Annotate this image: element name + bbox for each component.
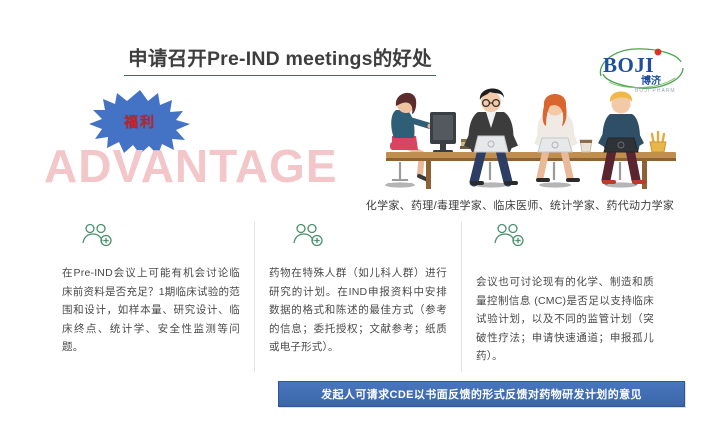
add-people-icon [492, 222, 526, 248]
add-people-icon [291, 222, 325, 248]
desktop-monitor [430, 112, 456, 153]
benefit-column-1-text: 在Pre-IND会议上可能有机会讨论临床前资料是否充足？1期临床试验的范围和设计… [62, 264, 240, 357]
footer-banner: 发起人可请求CDE以书面反馈的形式反馈对药物研发计划的意见 [278, 381, 685, 407]
page-title: 申请召开Pre-IND meetings的好处 [0, 46, 560, 76]
page-title-text: 申请召开Pre-IND meetings的好处 [124, 46, 436, 76]
advantage-wordmark: ADVANTAGE [44, 140, 338, 192]
laptop [604, 138, 638, 152]
benefit-column-3-text: 会议也可讨论现有的化学、制造和质量控制信息 (CMC)是否足以支持临床试验计划，… [476, 264, 654, 366]
slide-canvas: 申请召开Pre-IND meetings的好处 BOJI 博济 BOJI PHA… [0, 0, 701, 442]
coffee-cup [580, 140, 592, 152]
footer-banner-text: 发起人可请求CDE以书面反馈的形式反馈对药物研发计划的意见 [321, 386, 642, 402]
benefit-column-2: 药物在特殊人群（如儿科人群）进行研究的计划。在IND申报资料中安排数据的格式和陈… [254, 222, 461, 372]
laptop [538, 138, 572, 152]
svg-text:BOJI: BOJI [603, 53, 654, 77]
add-people-icon [80, 222, 114, 248]
benefit-column-2-text: 药物在特殊人群（如儿科人群）进行研究的计划。在IND申报资料中安排数据的格式和陈… [269, 264, 447, 357]
team-at-desk-illustration [378, 84, 688, 192]
benefit-column-3: 会议也可讨论现有的化学、制造和质量控制信息 (CMC)是否足以支持临床试验计划，… [461, 222, 668, 372]
pencil-cup [650, 132, 666, 152]
benefit-columns: 在Pre-IND会议上可能有机会讨论临床前资料是否充足？1期临床试验的范围和设计… [48, 222, 668, 372]
laptop [474, 136, 508, 152]
illustration-caption: 化学家、药理/毒理学家、临床医师、统计学家、药代动力学家 [348, 198, 692, 214]
benefit-column-1: 在Pre-IND会议上可能有机会讨论临床前资料是否充足？1期临床试验的范围和设计… [48, 222, 254, 372]
